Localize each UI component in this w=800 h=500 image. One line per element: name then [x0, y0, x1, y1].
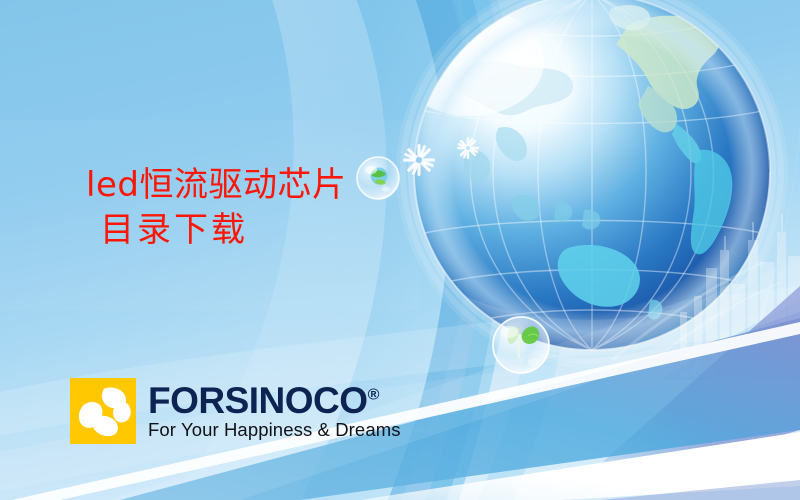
bubble-green-sprout: [493, 317, 549, 373]
light-streaks: [612, 262, 782, 382]
four-petal-flower-logo-icon: [70, 378, 136, 444]
logo-tagline: For Your Happiness & Dreams: [148, 421, 401, 440]
logo-company-name: FORSINOCO®: [148, 382, 401, 419]
world-globe-graphic: [374, 0, 788, 368]
sparkle-star-large: [396, 137, 441, 182]
sparkle-star-small: [452, 132, 483, 163]
headline-text: led恒流驱动芯片 目录下载: [86, 163, 346, 253]
company-logo: FORSINOCO® For Your Happiness & Dreams: [70, 378, 401, 444]
logo-wordmark: FORSINOCO® For Your Happiness & Dreams: [148, 382, 401, 440]
promo-banner: led恒流驱动芯片 目录下载 FORSINOCO®: [0, 0, 800, 500]
logo-company-text: FORSINOCO: [148, 380, 368, 421]
registered-trademark-icon: ®: [368, 387, 379, 404]
bubble-green-globe-small: [357, 157, 399, 199]
continent-shapes: [452, 5, 732, 319]
city-skyline-silhouette: [680, 214, 800, 378]
headline-line-1: led恒流驱动芯片: [86, 163, 346, 208]
headline-line-2: 目录下载: [86, 208, 346, 253]
